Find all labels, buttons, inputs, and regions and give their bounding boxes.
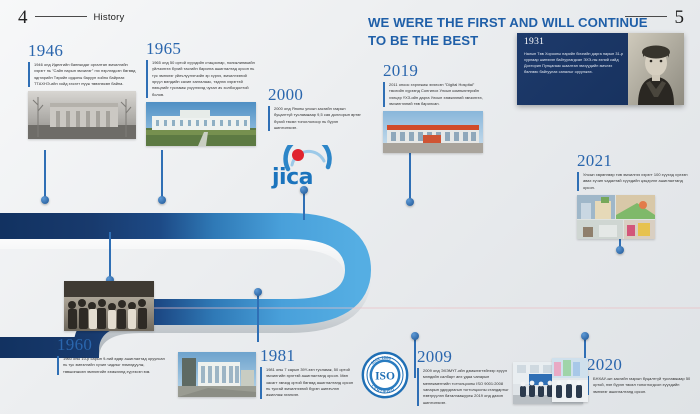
accent-bar	[577, 172, 579, 191]
event-card-1931[interactable]: 1931 Налын Төв Хорооны нарийн бичгийн да…	[517, 33, 684, 105]
accent-bar	[268, 106, 270, 131]
event-card-2000[interactable]: 2000 2000 онд Японы улсын засгийн газрын…	[268, 86, 362, 131]
timeline-dot-2019[interactable]	[406, 198, 414, 206]
event-year-1931: 1931	[524, 38, 624, 48]
connector-stem-2009	[414, 336, 416, 378]
event-photo-1931	[628, 33, 684, 105]
connector-stem-2000	[303, 190, 305, 220]
connector-stem-1965	[161, 150, 163, 202]
event-year-2020: 2020	[587, 356, 691, 373]
event-text-2020: БНХАУ-ын засгийн газрын буцалтгүй туслам…	[593, 376, 691, 395]
page-number-right: 5	[675, 8, 685, 27]
timeline-dot-1946[interactable]	[41, 196, 49, 204]
event-photo-1981	[178, 352, 256, 397]
connector-stem-1946	[44, 150, 46, 202]
event-photo-2019	[383, 111, 483, 153]
timeline-dot-2009[interactable]	[411, 332, 419, 340]
event-text-2019: 2011 оноос хэрэгжиж эхэлсэн "Digital Hos…	[389, 82, 487, 107]
event-card-1965[interactable]: 1965 1965 онд 50 ортой хүүхдийн стациона…	[146, 40, 258, 146]
connector-stem-1960	[109, 232, 111, 280]
event-photo-1965	[146, 102, 256, 146]
event-card-2020[interactable]: 2020 БНХАУ-ын засгийн газрын буцалтгүй т…	[587, 356, 691, 395]
timeline-dot-1981[interactable]	[254, 288, 262, 296]
connector-stem-2019	[409, 150, 411, 204]
event-text-2000: 2000 онд Японы улсын засгийн газрын буца…	[274, 106, 362, 131]
accent-bar	[260, 367, 262, 399]
page-number-left: 4	[18, 8, 28, 27]
event-year-2021: 2021	[577, 152, 689, 169]
event-photo-1960	[64, 281, 154, 331]
event-photo-1946	[28, 91, 136, 139]
accent-bar	[28, 62, 30, 87]
event-year-1946: 1946	[28, 42, 138, 59]
event-photo-2020	[552, 358, 588, 402]
accent-bar	[146, 60, 148, 98]
event-card-1960[interactable]: 1960 1960 оны 10-р сарын 9-ний өдөр ашиг…	[57, 336, 165, 375]
connector-stem-1981	[257, 292, 259, 342]
jica-logo: jica	[268, 145, 340, 193]
event-year-2009: 2009	[417, 348, 511, 365]
event-card-2019[interactable]: 2019 2011 оноос хэрэгжиж эхэлсэн "Digita…	[383, 62, 487, 153]
event-year-1960: 1960	[57, 336, 165, 353]
event-text-2009: 2009 онд ЭХЭМҮТ-ийн дэмжлэгтэйгээр эрүүл…	[423, 368, 511, 406]
accent-bar	[57, 356, 59, 375]
iso-certified-badge: ISO 9001:2008 CERTIFIED	[361, 351, 409, 399]
event-text-1931: Налын Төв Хорооны нарийн бичгийн дарга н…	[524, 51, 624, 76]
event-text-1981: 1981 оны 7 сарын 39Y-ээн тусламж, 50 орт…	[266, 367, 356, 399]
accent-bar	[383, 82, 385, 107]
event-year-2019: 2019	[383, 62, 487, 79]
timeline-dot-2020[interactable]	[581, 332, 589, 340]
event-year-1965: 1965	[146, 40, 258, 57]
event-year-2000: 2000	[268, 86, 362, 103]
jica-logo-text: jica	[272, 165, 313, 190]
header-rule-left	[35, 16, 87, 17]
event-card-2009[interactable]: 2009 2009 онд ЭХЭМҮТ-ийн дэмжлэгтэйгээр …	[417, 348, 511, 406]
event-photo-2021	[577, 195, 655, 239]
timeline-dot-1965[interactable]	[158, 196, 166, 204]
accent-bar	[417, 368, 419, 406]
event-year-1981: 1981	[260, 347, 356, 364]
event-text-1946: 1946 онд Иделгийн баннкидаг оргалтан эмч…	[34, 62, 138, 87]
event-text-2021: Улсын хөрөнгөөр тив эмчилгээ хэрэгт 100 …	[583, 172, 689, 191]
section-label-history: History	[94, 12, 125, 23]
page-header-left: 4 History	[18, 8, 124, 27]
iso-center-text: ISO	[375, 371, 395, 383]
infographic-page: 4 History 5 WE WERE THE FIRST AND WILL C…	[0, 0, 700, 414]
timeline-dot-2021[interactable]	[616, 246, 624, 254]
event-card-1946[interactable]: 1946 1946 онд Иделгийн баннкидаг оргалта…	[28, 42, 138, 139]
event-card-1981[interactable]: 1981 1981 оны 7 сарын 39Y-ээн тусламж, 5…	[260, 347, 356, 399]
event-text-1965: 1965 онд 50 ортой хүүхдийн стационар, по…	[152, 60, 258, 98]
event-text-1960: 1960 оны 10-р сарын 9-ний өдөр ашиглалта…	[63, 356, 165, 375]
event-card-2021[interactable]: 2021 Улсын хөрөнгөөр тив эмчилгээ хэрэгт…	[577, 152, 689, 239]
